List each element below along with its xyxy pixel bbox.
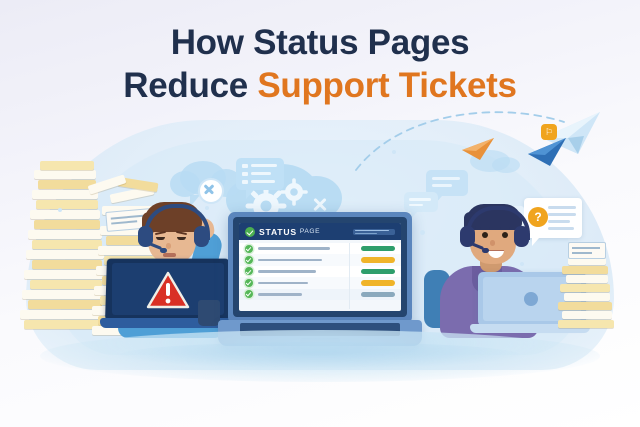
- plane-badge-icon: ⚐: [541, 124, 557, 140]
- service-name-bar: [258, 293, 302, 296]
- sparkle-icon: [392, 150, 396, 154]
- sparkle-icon: [420, 230, 425, 235]
- status-page-brand-suffix: PAGE: [300, 228, 320, 235]
- status-badge[interactable]: [361, 257, 395, 262]
- table-row[interactable]: [239, 243, 401, 254]
- status-badge[interactable]: [361, 269, 395, 274]
- chat-bubble-icon-left: [236, 158, 284, 190]
- status-page-brand: STATUS: [259, 227, 297, 237]
- sparkle-icon: [58, 208, 62, 212]
- sparkle-icon: [205, 206, 209, 210]
- status-badge[interactable]: [361, 292, 395, 297]
- page-title: How Status Pages Reduce Support Tickets: [0, 22, 640, 107]
- table-row[interactable]: [239, 289, 401, 300]
- paper-plane-icon-navy: [526, 136, 572, 176]
- table-row[interactable]: [239, 277, 401, 288]
- sparkle-icon: [520, 262, 524, 266]
- service-name-bar: [258, 259, 322, 262]
- status-badge[interactable]: [361, 246, 395, 251]
- status-page-header: STATUS PAGE: [239, 223, 401, 240]
- status-ok-icon: [245, 256, 253, 264]
- headline-line-1: How Status Pages: [0, 22, 640, 65]
- floor-shadow-inner: [120, 342, 520, 368]
- status-page-meta: [353, 229, 395, 235]
- status-page-screen: STATUS PAGE: [239, 223, 401, 311]
- illustration-canvas: How Status Pages Reduce Support Tickets: [0, 0, 640, 427]
- red-warning-triangle-icon: [146, 270, 190, 310]
- paper-plane-icon-orange: [460, 136, 500, 166]
- desk-cup-left: [198, 300, 220, 326]
- status-ok-icon: [245, 290, 253, 298]
- status-badge[interactable]: [361, 280, 395, 285]
- table-row[interactable]: [239, 266, 401, 277]
- status-ok-icon: [245, 267, 253, 275]
- status-ok-icon: [245, 245, 253, 253]
- green-check-circle-icon: [245, 227, 255, 237]
- service-name-bar: [258, 247, 330, 250]
- x-mark-icon: [312, 196, 328, 212]
- ticket-pile-small: [556, 242, 626, 334]
- service-name-bar: [258, 282, 308, 285]
- table-row[interactable]: [239, 254, 401, 265]
- service-name-bar: [258, 270, 316, 273]
- status-ok-icon: [245, 279, 253, 287]
- status-row-list: [239, 240, 401, 300]
